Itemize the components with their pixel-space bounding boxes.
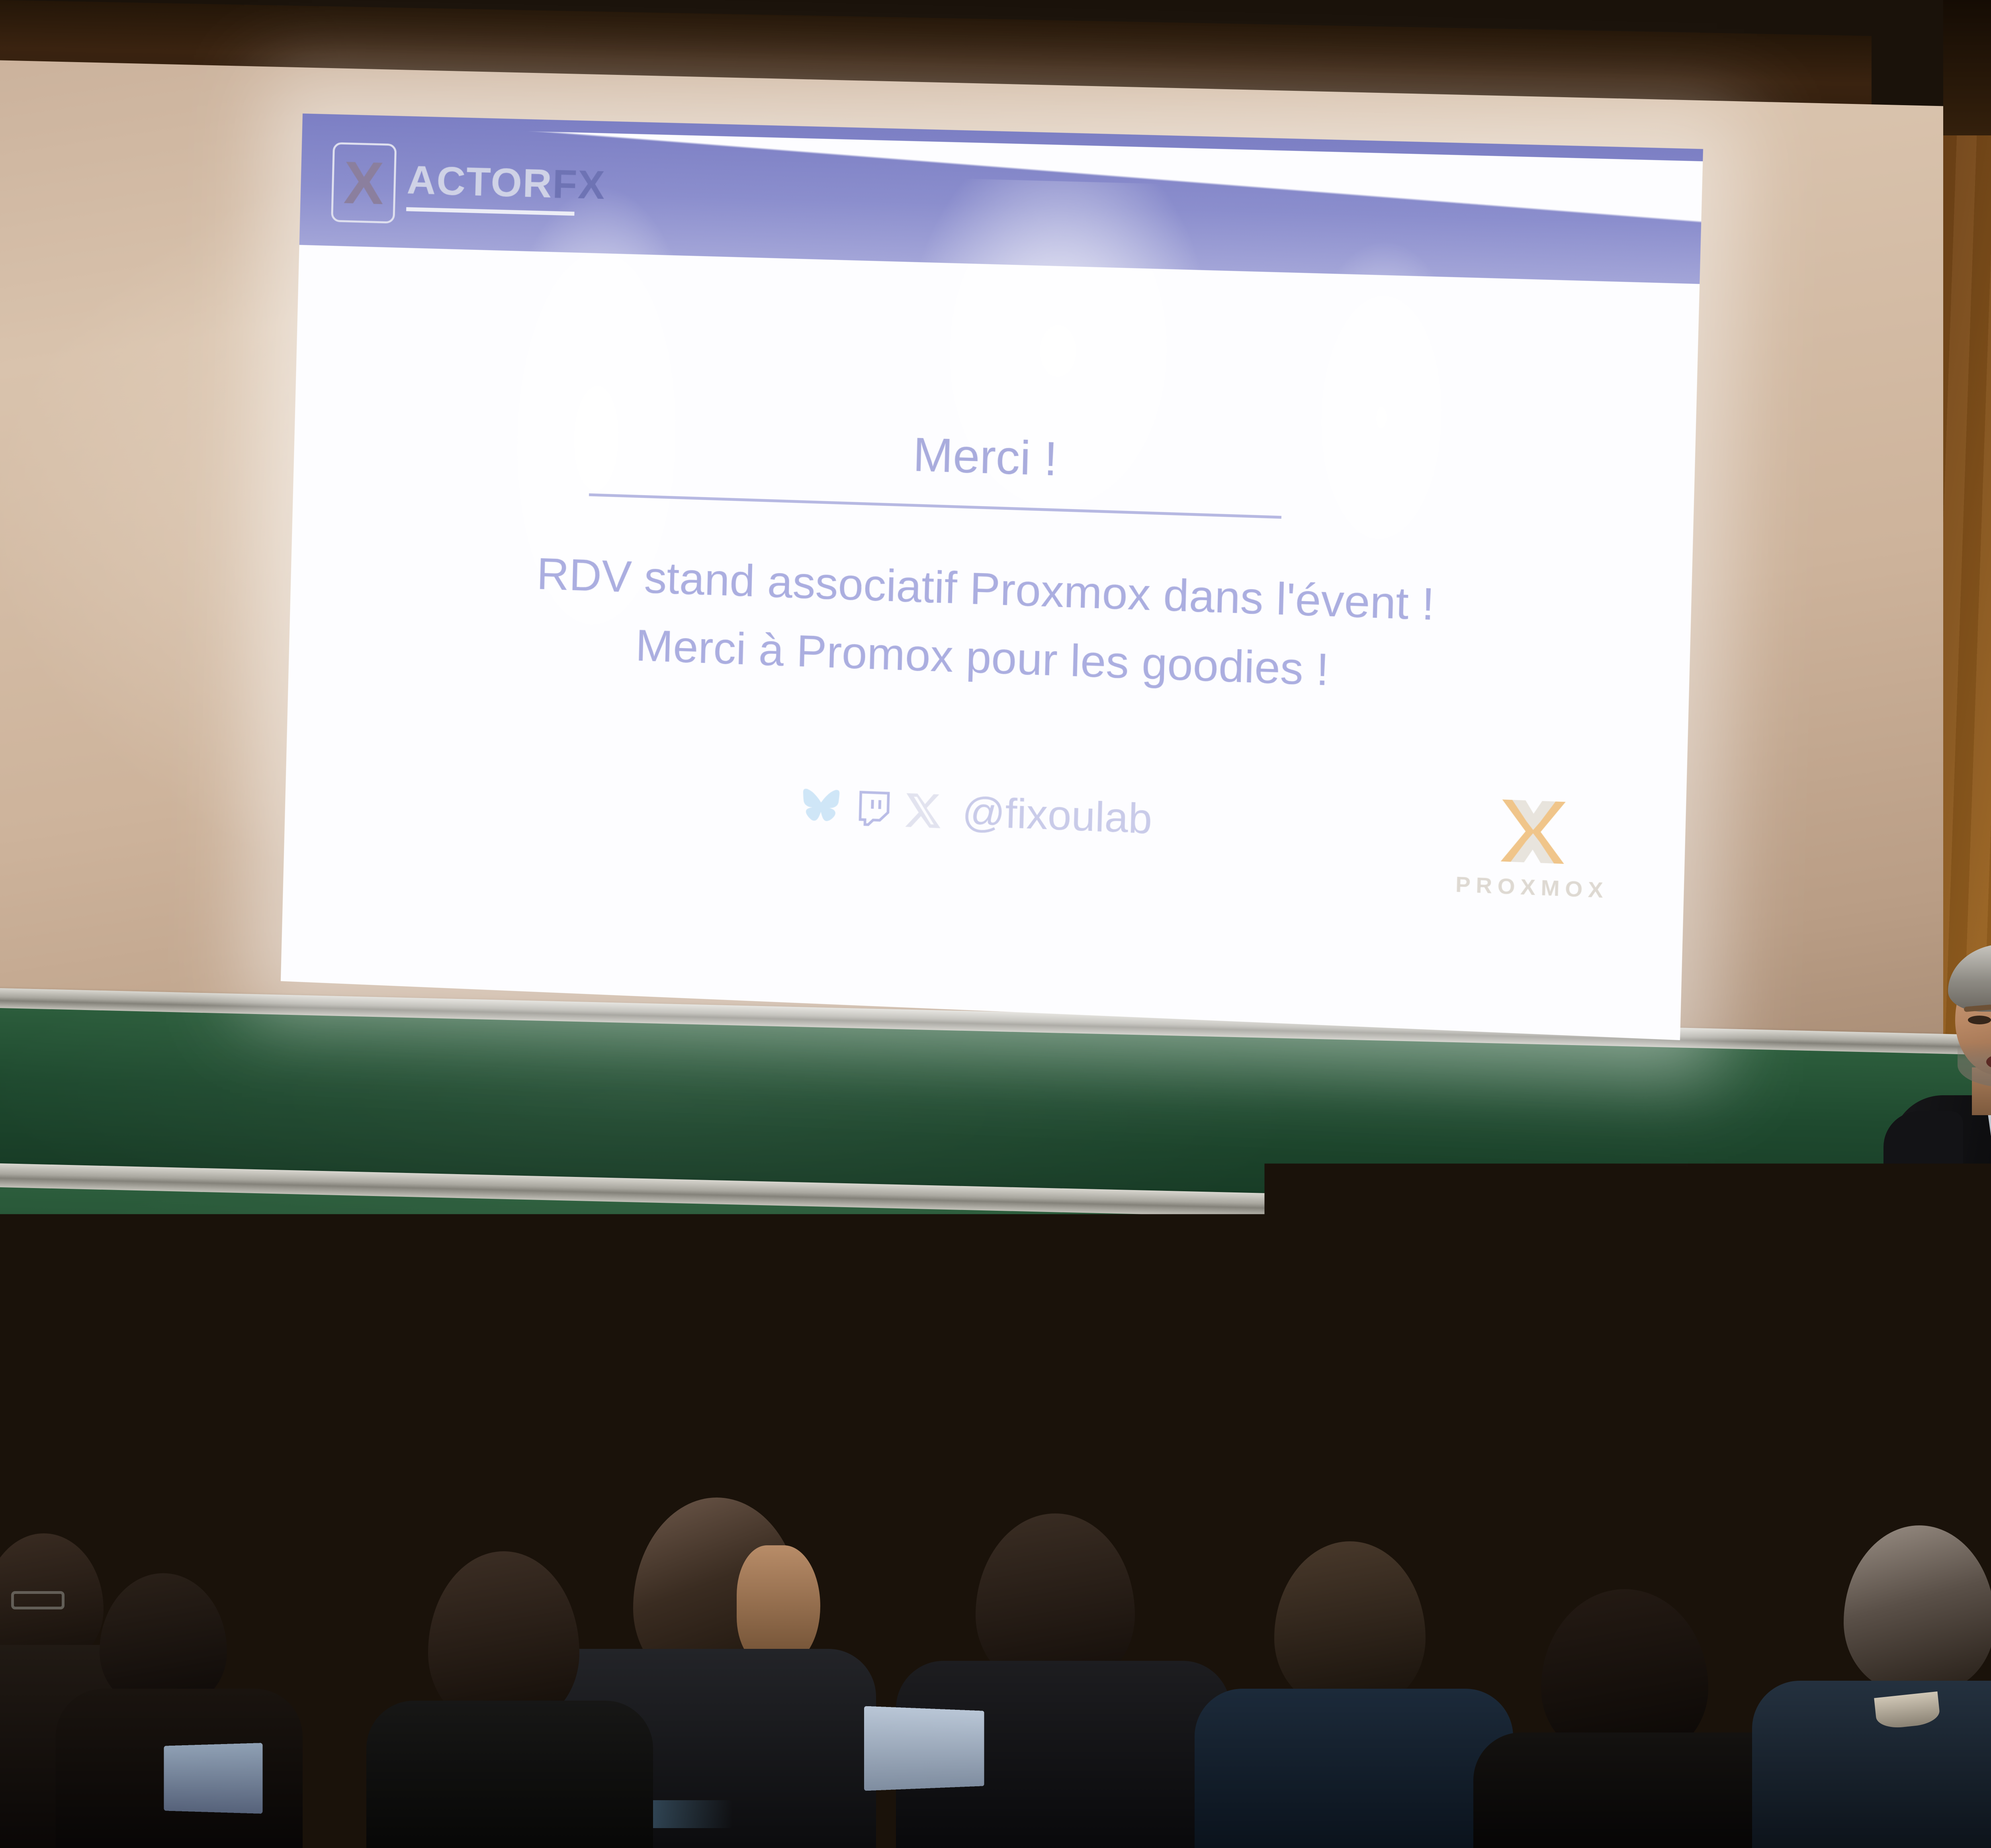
led-row (1666, 1445, 1709, 1454)
audience-face (737, 1545, 820, 1665)
tshirt-server-icon (1903, 1332, 1939, 1363)
slide-brand-word-row: ACTORFX (407, 157, 606, 208)
audience-head (428, 1551, 579, 1727)
status-led (1682, 1434, 1689, 1443)
presenter-shoulder (1883, 1111, 1963, 1215)
tshirt-server-icon (1903, 1290, 1938, 1321)
tshirt-server-icon (1946, 1416, 1982, 1447)
audience-shoulders (1473, 1732, 1800, 1848)
twitch-icon (853, 788, 894, 830)
bluesky-butterfly-icon (801, 787, 844, 827)
audience-head (1844, 1525, 1991, 1693)
status-led (1691, 1445, 1697, 1454)
paper-sheet (8, 1367, 68, 1417)
badge-event-line-1: Capitole (1976, 1231, 1991, 1245)
audience-head (100, 1573, 227, 1709)
slide-social-handle: @fixoulab (962, 788, 1153, 843)
slide-brand-wordmark: ACTORFX (406, 157, 606, 216)
presenter-beard (1958, 1043, 1991, 1087)
conference-badge: Capitole du Libre 2025 François-Xavier G… (1960, 1222, 1991, 1334)
audience (0, 1474, 1991, 1848)
badge-first-name: François-Xavier (1969, 1279, 1991, 1291)
status-led (1666, 1434, 1672, 1443)
led-row (1666, 1434, 1709, 1443)
presenter-hair (1948, 944, 1991, 1012)
tshirt-server-icon (1902, 1248, 1938, 1279)
status-led (885, 1412, 890, 1419)
laptop-brand-icon (1037, 1370, 1074, 1400)
proxmox-x-icon (1488, 788, 1578, 873)
status-led (1666, 1445, 1672, 1454)
bottle-neck (1392, 1348, 1406, 1359)
wood-wall-shadow (1943, 0, 1991, 135)
audience-shoulders (1195, 1689, 1513, 1848)
bottle-cap (1346, 1330, 1365, 1344)
bottle-cap (1389, 1334, 1408, 1348)
logo-x-glyph: X (343, 159, 384, 208)
photo-canvas: X ACTORFX Merci ! RDV stand associatif P… (0, 0, 1991, 1848)
brand-word-bold: FX (552, 161, 606, 208)
tshirt-server-icon (1986, 1373, 1991, 1404)
badge-event-line-2: du Libre (1976, 1243, 1991, 1257)
badge-year: 2025 (1989, 1258, 1991, 1270)
desk-socket-panel[interactable] (868, 1407, 906, 1424)
laptop (975, 1327, 1135, 1449)
microphone-head (123, 1386, 152, 1411)
status-led (1674, 1434, 1680, 1443)
status-led (1674, 1445, 1680, 1454)
audience-head (1274, 1541, 1426, 1709)
tshirt-server-icon (1905, 1417, 1941, 1448)
proxmox-sponsor-logo: PROXMOX (1455, 787, 1611, 903)
status-led (1682, 1445, 1689, 1454)
brand-word-dim: ACTOR (407, 157, 553, 206)
proxmox-wordmark: PROXMOX (1455, 872, 1609, 903)
audience-shoulders (1752, 1681, 1991, 1848)
bottle-neck (1348, 1344, 1362, 1355)
paper-sheet (487, 1432, 596, 1462)
tshirt-server-icon (1987, 1416, 1991, 1447)
projected-slide: X ACTORFX Merci ! RDV stand associatif P… (281, 114, 1703, 1040)
presenter-eye (1968, 1016, 1991, 1024)
tshirt-server-icon (1945, 1374, 1981, 1405)
slide-brand-logo: X ACTORFX (331, 142, 606, 229)
tshirt-server-icon (1904, 1375, 1940, 1406)
slide-brand-underline (406, 207, 575, 215)
audience-laptop (164, 1743, 263, 1814)
factorfx-x-icon: X (331, 142, 397, 223)
x-twitter-icon (903, 789, 945, 831)
badge-last-name: Guidet (1985, 1293, 1991, 1306)
laptop-lid (975, 1327, 1135, 1436)
audience-shoulders (366, 1701, 653, 1848)
badge-role-band: SPEAKER (1962, 1333, 1991, 1355)
status-led (1691, 1434, 1697, 1443)
eyeglasses-icon (11, 1591, 65, 1609)
audience-laptop (864, 1706, 984, 1791)
desk-control-panel[interactable] (1662, 1431, 1712, 1469)
status-led (878, 1412, 883, 1419)
status-led (892, 1412, 896, 1419)
